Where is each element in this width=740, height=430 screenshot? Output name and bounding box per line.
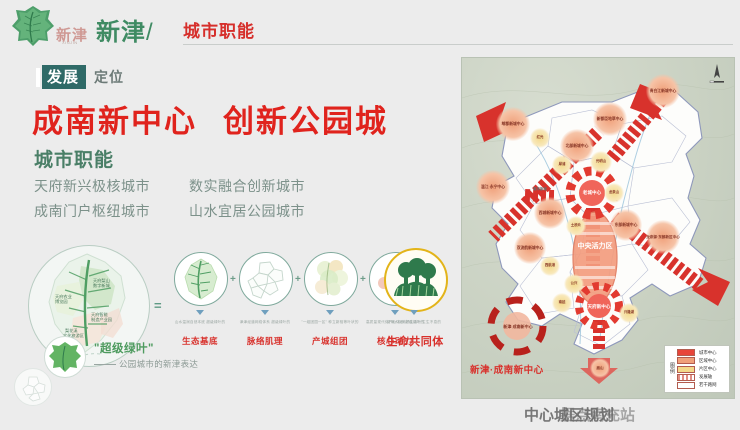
super-leaf-badge [44, 336, 86, 378]
network-cells-small-icon [15, 369, 51, 405]
legend-label: 片区中心 [699, 366, 717, 372]
page-title: 新津/ [96, 12, 154, 47]
plus-sign-1: + [230, 274, 236, 285]
cluster-blobs-icon [305, 253, 357, 305]
node-desc-5: 新津人民美好生活叶 生生不息的 [382, 319, 446, 325]
node-circle-3 [304, 252, 358, 306]
page-header: 新津 XINJIN 新津/ 城市职能 [0, 0, 740, 50]
legend-row: 城市中心 [677, 349, 726, 357]
legend-label: 城市中心 [699, 350, 717, 356]
central-activity-zone-label: 中央活力区 [575, 242, 615, 252]
legend-row: 发展轴 [677, 373, 726, 381]
map-hub-region[interactable]: 龙泉驿·东部新区中心 [646, 220, 680, 254]
map-hub-region[interactable]: 温江·永宁中心 [476, 170, 510, 204]
badge-accent-bar [36, 68, 40, 87]
leaf-logo-icon [10, 4, 56, 48]
super-leaf-quote: "超级绿叶" [94, 340, 154, 356]
svg-text:博览园: 博览园 [55, 298, 68, 305]
leaf-veins-icon [175, 253, 227, 305]
node-label-2: 脉络肌理 [230, 335, 300, 347]
logo-subtext: XINJIN [62, 40, 78, 45]
legend-swatch-region-center [677, 357, 695, 364]
map-hub-area[interactable]: 西航港 [540, 256, 560, 276]
arrow-down-4 [391, 310, 399, 315]
compass-icon [706, 62, 728, 86]
badge-tail-label: 定位 [94, 67, 124, 87]
map-hub-region[interactable]: 青白江新城中心 [646, 74, 680, 108]
section-title: 城市职能 [34, 145, 114, 172]
network-badge [14, 368, 52, 406]
watermark-text-b: 据点南充站 [560, 404, 635, 425]
arrow-down-2 [261, 310, 269, 315]
node-circle-1 [174, 252, 228, 306]
people-trees-icon [386, 250, 446, 310]
plus-sign-3: + [360, 274, 366, 285]
page-title-text: 新津 [96, 19, 146, 46]
map-hub-area[interactable]: 犀浦 [552, 155, 572, 175]
legend-row: 片区中心 [677, 365, 726, 373]
badge-label: 发展 [42, 65, 86, 89]
super-leaf-quote-sub: 公园城市的新津表达 [94, 358, 198, 370]
city-structure-map[interactable]: 青白江新城中心 新都臣地草中心 郫都新城中心 北部新城中心 光明山 红光 犀浦 … [461, 57, 735, 399]
legend-swatch-axis [677, 374, 695, 381]
plus-sign-2: + [295, 274, 301, 285]
arrow-down-1 [196, 310, 204, 315]
node-desc-1: 山水温润自然本底 超级绿叶的 [168, 319, 232, 325]
legend-label: 区域中心 [699, 358, 717, 364]
node-label-3: 产城组团 [295, 335, 365, 347]
map-hub-area[interactable]: 南延 [552, 293, 572, 313]
headline: 成南新中心创新公园城 [32, 96, 388, 141]
list-item: 成南门户枢纽城市 [34, 201, 179, 223]
legend-label: 若干路网 [699, 382, 717, 388]
legend-swatch-roads [677, 382, 695, 389]
arrow-down-5 [410, 310, 418, 315]
legend-title: 图例 [668, 363, 677, 376]
map-legend: 图例 城市中心 区域中心 片区中心 发展轴 [664, 345, 730, 393]
map-hub-area[interactable]: 光明山 [590, 151, 612, 173]
svg-text:数字新城: 数字新城 [93, 282, 111, 289]
list-item: 山水宜居公园城市 [189, 201, 334, 223]
map-hub-area[interactable]: 眉山 [590, 358, 610, 378]
legend-row: 区域中心 [677, 357, 726, 365]
legend-swatch-area-center [677, 366, 695, 373]
map-hub-area[interactable]: 土桥片 [566, 216, 586, 236]
legend-row: 若干路网 [677, 381, 726, 389]
slide-root: 新津 XINJIN 新津/ 城市职能 发展 定位 成南新中心创新公园城 城市职能… [0, 0, 740, 430]
equals-sign: = [154, 298, 162, 313]
svg-text:制造产业园: 制造产业园 [91, 316, 112, 323]
map-city-tag: 新津·成南新中心 [470, 362, 544, 376]
quote-sub-text: 公园城市的新津表达 [119, 359, 198, 369]
node-desc-3: "一组团园一区" 种立新相等叶状的 [298, 319, 362, 325]
map-hub-region[interactable]: 新都臣地草中心 [593, 102, 627, 136]
map-hub-area[interactable]: 红光 [530, 128, 550, 148]
headline-part-a: 成南新中心 [32, 104, 197, 139]
map-hub-region[interactable]: 西城新城中心 [534, 197, 566, 229]
node-desc-2: 津津经道网络体系 超级绿叶的 [233, 319, 297, 325]
section-badge: 发展 定位 [36, 66, 124, 88]
node-label-1: 生态基底 [165, 335, 235, 347]
map-hub-region[interactable]: 东部新城中心 [610, 209, 642, 241]
legend-swatch-city-center [677, 349, 695, 356]
legend-items: 城市中心 区域中心 片区中心 发展轴 若干路网 [677, 349, 726, 390]
node-circle-2 [239, 252, 293, 306]
map-hub-city-center[interactable]: 天府新中心 [586, 296, 612, 318]
headline-part-b: 创新公园城 [223, 104, 388, 139]
list-item: 天府新兴极核城市 [34, 176, 179, 198]
page-subtitle: 城市职能 [183, 17, 255, 42]
list-item: 数实融合创新城市 [189, 176, 334, 198]
green-leaf-icon [45, 337, 85, 377]
map-hub-region[interactable]: 郫都新城中心 [496, 107, 530, 141]
map-hub-area[interactable]: 兴隆湖 [619, 303, 639, 323]
green-leaf-formula-diagram: 天府梨山 数字新城 天府农业 博览园 天府智能 制造产业园 梨花溪 文化旅游区 … [8, 240, 448, 420]
arrow-down-3 [326, 310, 334, 315]
brand-logo: 新津 XINJIN [10, 4, 96, 48]
legend-label: 发展轴 [699, 374, 712, 380]
node-label-5: 生命共同体 [375, 333, 455, 349]
map-hub-xinjin-center[interactable]: 新津·成南新中心 [500, 314, 536, 340]
map-hub-area[interactable]: 龙泉山 [604, 183, 624, 203]
node-circle-5 [384, 248, 448, 312]
city-functions-list: 天府新兴极核城市 数实融合创新城市 成南门户枢纽城市 山水宜居公园城市 [34, 176, 334, 223]
network-cells-icon [240, 253, 292, 305]
map-hub-city-center[interactable]: 老城中心 [579, 182, 605, 204]
map-hub-area[interactable]: 公兴 [564, 274, 584, 294]
header-divider [183, 44, 733, 45]
title-slash: / [146, 19, 154, 46]
